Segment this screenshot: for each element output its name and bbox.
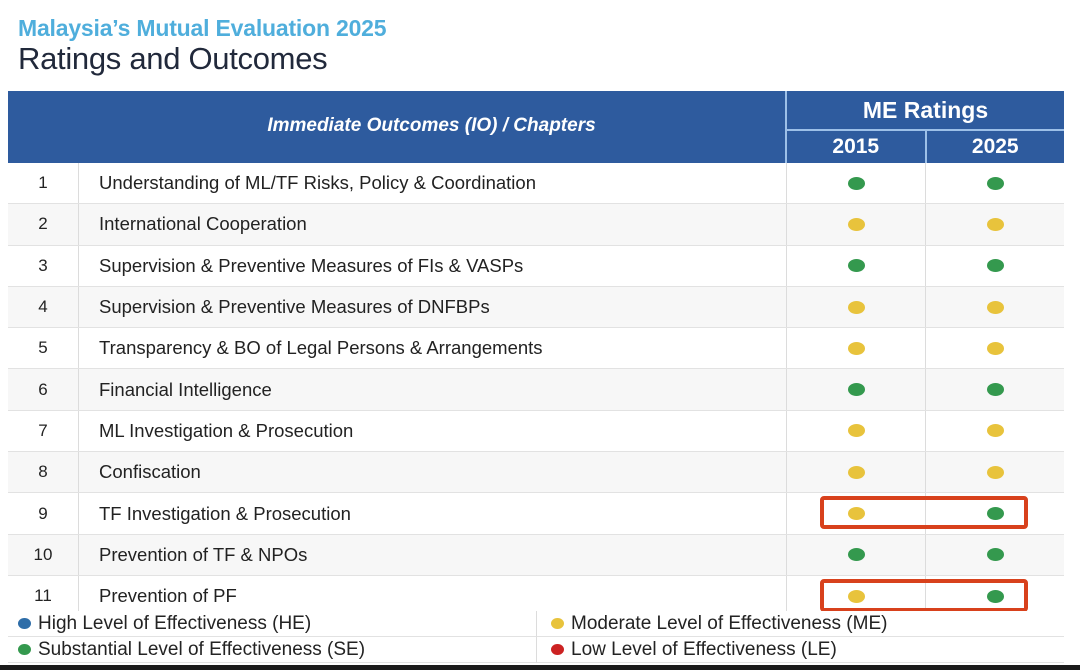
table-row: 1Understanding of ML/TF Risks, Policy & … (8, 163, 1064, 204)
rating-dot-me-icon (848, 301, 865, 314)
legend-dot-le-icon (551, 644, 564, 655)
header-year-2025: 2025 (927, 131, 1065, 163)
page-title: Ratings and Outcomes (18, 42, 1080, 77)
rating-cell-2015 (787, 535, 926, 575)
rating-cell-2015 (787, 204, 926, 244)
rating-dot-me-icon (987, 342, 1004, 355)
rating-dot-me-icon (848, 507, 865, 520)
legend-label: Substantial Level of Effectiveness (SE) (38, 639, 365, 661)
header-number-cell (8, 91, 78, 163)
legend-item-se: Substantial Level of Effectiveness (SE) (8, 637, 536, 663)
row-outcome-label: TF Investigation & Prosecution (79, 493, 787, 533)
legend-item-he: High Level of Effectiveness (HE) (8, 611, 536, 637)
row-number: 1 (8, 163, 79, 203)
rating-cell-2025 (926, 535, 1064, 575)
row-outcome-label: ML Investigation & Prosecution (79, 411, 787, 451)
legend-dot-me-icon (551, 618, 564, 629)
title-block: Malaysia’s Mutual Evaluation 2025 Rating… (0, 0, 1080, 77)
row-outcome-label: Transparency & BO of Legal Persons & Arr… (79, 328, 787, 368)
table-row: 6Financial Intelligence (8, 369, 1064, 410)
legend-dot-he-icon (18, 618, 31, 629)
rating-dot-se-icon (987, 507, 1004, 520)
legend: High Level of Effectiveness (HE)Moderate… (8, 611, 1064, 663)
header-years: 2015 2025 (787, 131, 1064, 163)
rating-dot-se-icon (987, 548, 1004, 561)
row-number: 9 (8, 493, 79, 533)
rating-cell-2015 (787, 328, 926, 368)
row-outcome-label: Prevention of TF & NPOs (79, 535, 787, 575)
rating-dot-se-icon (848, 383, 865, 396)
row-number: 3 (8, 246, 79, 286)
rating-cell-2025 (926, 411, 1064, 451)
rating-dot-me-icon (987, 218, 1004, 231)
rating-cell-2025 (926, 163, 1064, 203)
row-number: 7 (8, 411, 79, 451)
left-margin (0, 0, 8, 670)
table-header-row: Immediate Outcomes (IO) / Chapters ME Ra… (8, 91, 1064, 163)
rating-dot-me-icon (848, 218, 865, 231)
legend-label: High Level of Effectiveness (HE) (38, 613, 311, 635)
rating-cell-2015 (787, 246, 926, 286)
page-subtitle: Malaysia’s Mutual Evaluation 2025 (18, 16, 1080, 40)
table-row: 2International Cooperation (8, 204, 1064, 245)
row-outcome-label: Supervision & Preventive Measures of DNF… (79, 287, 787, 327)
rating-dot-se-icon (848, 177, 865, 190)
rating-dot-me-icon (848, 590, 865, 603)
legend-item-me: Moderate Level of Effectiveness (ME) (536, 611, 1064, 637)
row-number: 4 (8, 287, 79, 327)
row-outcome-label: Understanding of ML/TF Risks, Policy & C… (79, 163, 787, 203)
table-row: 3Supervision & Preventive Measures of FI… (8, 246, 1064, 287)
table-row: 9TF Investigation & Prosecution (8, 493, 1064, 534)
rating-dot-se-icon (987, 259, 1004, 272)
row-outcome-label: Confiscation (79, 452, 787, 492)
legend-label: Moderate Level of Effectiveness (ME) (571, 613, 887, 635)
row-outcome-label: Financial Intelligence (79, 369, 787, 409)
rating-cell-2015 (787, 411, 926, 451)
rating-cell-2025 (926, 493, 1064, 533)
rating-dot-se-icon (987, 590, 1004, 603)
rating-dot-me-icon (987, 424, 1004, 437)
legend-item-le: Low Level of Effectiveness (LE) (536, 637, 1064, 663)
legend-label: Low Level of Effectiveness (LE) (571, 639, 837, 661)
table-row: 4Supervision & Preventive Measures of DN… (8, 287, 1064, 328)
rating-cell-2025 (926, 452, 1064, 492)
table-row: 8Confiscation (8, 452, 1064, 493)
rating-cell-2025 (926, 369, 1064, 409)
header-me-ratings-label: ME Ratings (787, 91, 1064, 131)
header-ratings-group: ME Ratings 2015 2025 (787, 91, 1064, 163)
row-number: 2 (8, 204, 79, 244)
rating-dot-me-icon (848, 466, 865, 479)
rating-cell-2025 (926, 204, 1064, 244)
rating-dot-se-icon (848, 259, 865, 272)
table-row: 7ML Investigation & Prosecution (8, 411, 1064, 452)
rating-cell-2025 (926, 328, 1064, 368)
rating-cell-2015 (787, 163, 926, 203)
rating-dot-se-icon (987, 383, 1004, 396)
row-number: 10 (8, 535, 79, 575)
row-number: 6 (8, 369, 79, 409)
header-outcomes-cell: Immediate Outcomes (IO) / Chapters (78, 91, 787, 163)
rating-dot-se-icon (987, 177, 1004, 190)
rating-cell-2015 (787, 369, 926, 409)
rating-cell-2025 (926, 287, 1064, 327)
legend-dot-se-icon (18, 644, 31, 655)
rating-dot-me-icon (987, 301, 1004, 314)
rating-cell-2015 (787, 493, 926, 533)
bottom-strip (0, 665, 1080, 670)
table-row: 5Transparency & BO of Legal Persons & Ar… (8, 328, 1064, 369)
table-row: 10Prevention of TF & NPOs (8, 535, 1064, 576)
row-outcome-label: International Cooperation (79, 204, 787, 244)
rating-dot-me-icon (987, 466, 1004, 479)
rating-dot-se-icon (848, 548, 865, 561)
row-number: 8 (8, 452, 79, 492)
row-number: 5 (8, 328, 79, 368)
rating-dot-me-icon (848, 342, 865, 355)
table-body: 1Understanding of ML/TF Risks, Policy & … (8, 163, 1064, 617)
ratings-table: Immediate Outcomes (IO) / Chapters ME Ra… (8, 91, 1064, 617)
rating-dot-me-icon (848, 424, 865, 437)
rating-cell-2025 (926, 246, 1064, 286)
rating-cell-2015 (787, 287, 926, 327)
row-outcome-label: Supervision & Preventive Measures of FIs… (79, 246, 787, 286)
rating-cell-2015 (787, 452, 926, 492)
header-year-2015: 2015 (787, 131, 927, 163)
